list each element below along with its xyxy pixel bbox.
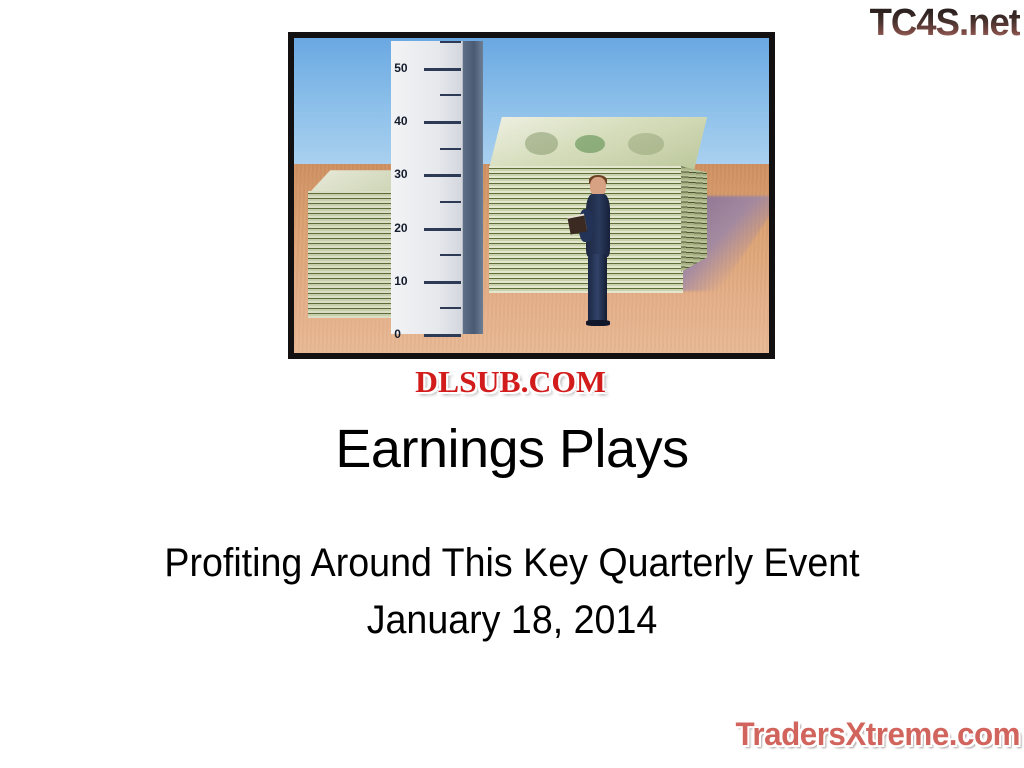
ruler-major-tick [424,174,461,177]
ruler-tick-label: 30 [394,167,407,181]
businessman-shoes [586,320,610,326]
dollar-bill-artwork [515,124,681,163]
bill-denomination-oval [628,133,665,154]
clipboard-icon [567,215,587,234]
businessman-head [590,177,606,196]
ruler-tick-label: 50 [394,61,407,75]
ruler-minor-tick [440,94,461,96]
ruler-minor-tick [440,254,461,256]
slide-date: January 18, 2014 [31,591,994,649]
illustration-frame: 50403020100 [288,32,775,359]
slide-subtitle: Profiting Around This Key Quarterly Even… [31,535,994,591]
tradersxtreme-brand-logo: TradersXtreme.com [683,714,1020,754]
businessman-figure [581,177,614,325]
ruler-major-tick [424,68,461,71]
ruler-tick-label: 20 [394,221,407,235]
businessman-legs [588,254,607,322]
subtitle-block: Profiting Around This Key Quarterly Even… [0,535,1024,649]
ruler-minor-tick [440,307,461,309]
ruler-tick-label: 40 [394,114,407,128]
dlsub-watermark: DLSUB.COM [366,365,655,399]
measuring-ruler: 50403020100 [391,41,462,334]
ruler-tick-label: 0 [394,327,401,341]
bill-portrait-oval [525,132,558,155]
money-ruler-illustration: 50403020100 [294,38,769,353]
ruler-minor-tick [440,41,461,43]
ruler-major-tick [424,228,461,231]
bill-seal-oval [575,135,605,153]
ruler-face [391,41,462,334]
ruler-minor-tick [440,148,461,150]
ruler-major-tick [424,334,461,337]
ruler-minor-tick [440,201,461,203]
ruler-major-tick [424,281,461,284]
tc4s-site-logo: TC4S.net [836,2,1020,44]
large-stack-side-face [681,166,707,272]
ruler-tick-label: 10 [394,274,407,288]
ruler-major-tick [424,121,461,124]
page-title: Earnings Plays [0,418,1024,480]
ruler-edge [463,41,483,334]
